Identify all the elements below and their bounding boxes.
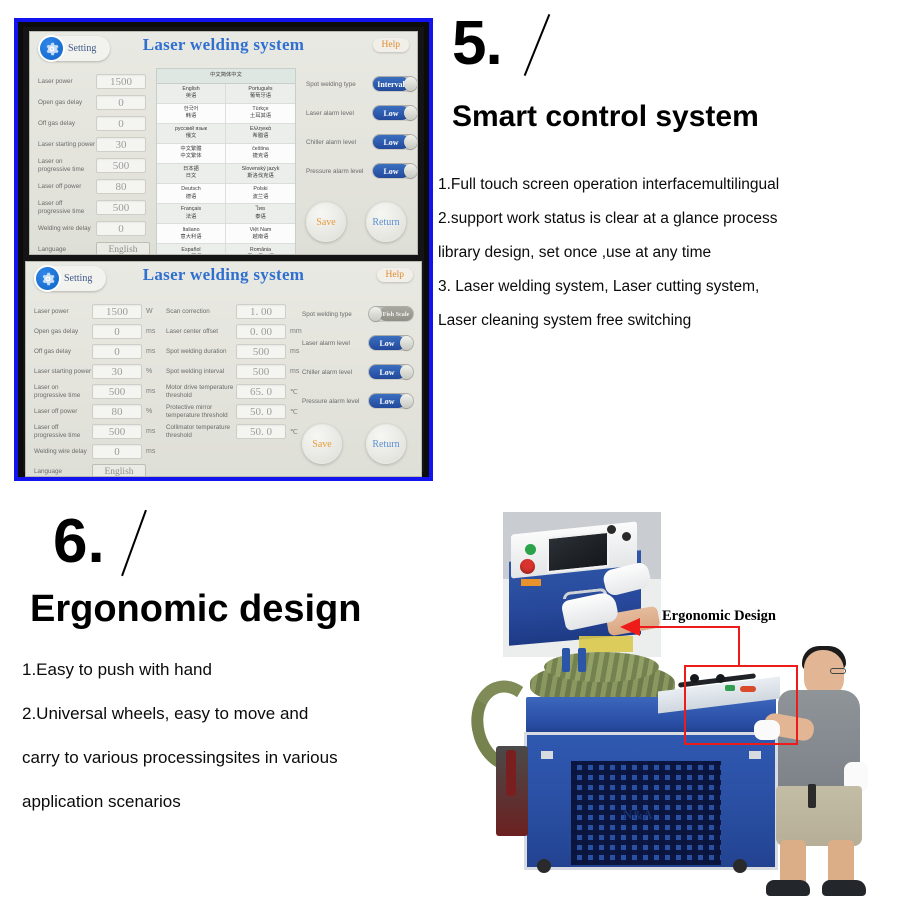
section5-bullet-list: 1.Full touch screen operation interfacem… xyxy=(438,168,898,338)
field-row: Off gas delay0 xyxy=(38,116,146,131)
section6-line-2: 2.Universal wheels, easy to move and xyxy=(22,692,492,736)
field-label: Laser off progressive time xyxy=(34,424,92,440)
toggle-knob xyxy=(404,164,417,178)
toggle-switch[interactable]: Interval xyxy=(372,76,418,92)
toggle-knob xyxy=(404,77,417,91)
field-row: Scan correction1. 00 xyxy=(166,304,306,319)
section6-bullet-list: 1.Easy to push with hand2.Universal whee… xyxy=(22,648,492,824)
field-row: Motor drive temperature threshold65. 0℃ xyxy=(166,384,306,400)
toggle-switch[interactable]: Low xyxy=(368,364,414,380)
hmi-panel-a: Setting Laser welding system Help Laser … xyxy=(29,31,418,255)
field-unit: ms xyxy=(146,448,162,455)
language-name: 中文繁體 xyxy=(180,146,201,152)
language-name-zh: 斯洛伐克语 xyxy=(227,173,294,180)
callout-leader-horizontal xyxy=(640,626,740,628)
language-name: 日本語 xyxy=(183,166,199,172)
toggle-label: Pressure alarm level xyxy=(306,168,372,175)
language-option[interactable]: România罗马尼亚语 xyxy=(226,244,295,255)
touch-screen-inset xyxy=(547,531,609,574)
field-label: Protective mirror temperature threshold xyxy=(166,404,236,420)
panel-b-body: Laser power1500WOpen gas delay0msOff gas… xyxy=(26,296,421,476)
language-name-zh: 西班牙语 xyxy=(158,254,224,255)
section6-line-1: 1.Easy to push with hand xyxy=(22,648,492,692)
field-label: Spot welding duration xyxy=(166,348,236,356)
language-option[interactable]: čeština捷克语 xyxy=(226,144,295,163)
field-label: Collimator temperature threshold xyxy=(166,424,236,440)
section5-line-4: 3. Laser welding system, Laser cutting s… xyxy=(438,270,898,304)
language-table-row: Italiano意大利语Việt Nam越南语 xyxy=(157,224,295,244)
language-name-zh: 韩语 xyxy=(158,113,224,120)
toggle-label: Spot welding type xyxy=(302,311,368,318)
section5-number: 5. xyxy=(452,8,502,79)
language-name-zh: 捷克语 xyxy=(227,153,294,160)
language-option[interactable]: Português葡萄牙语 xyxy=(226,84,295,103)
language-option[interactable]: ไทย泰语 xyxy=(226,204,295,223)
language-select-button[interactable]: English xyxy=(96,242,150,255)
language-name: Português xyxy=(248,86,272,92)
language-name: Ελληνικά xyxy=(250,126,271,132)
language-name: Việt Nam xyxy=(250,227,272,233)
latch-icon xyxy=(541,751,553,759)
language-option[interactable]: English英语 xyxy=(157,84,226,103)
language-name: ไทย xyxy=(256,206,265,212)
toggle-switch[interactable]: Low xyxy=(372,134,418,150)
language-name-zh: 波兰语 xyxy=(227,194,294,201)
field-value-input[interactable]: 0 xyxy=(96,116,146,131)
help-button-a[interactable]: Help xyxy=(373,38,409,52)
language-name: România xyxy=(250,247,271,253)
language-option[interactable]: Deutsch德语 xyxy=(157,184,226,203)
blue-strap xyxy=(578,648,586,672)
operator-belt-item xyxy=(808,784,816,808)
field-row: Laser on progressive time500 xyxy=(38,158,146,174)
black-knob-icon xyxy=(607,525,616,534)
field-value-input[interactable]: 65. 0 xyxy=(236,384,286,399)
field-label: Welding wire delay xyxy=(38,225,96,233)
toggle-row: Pressure alarm levelLow xyxy=(302,393,414,409)
field-unit: mm xyxy=(290,328,306,335)
language-option[interactable]: 中文繁體中文繁体 xyxy=(157,144,226,163)
field-value-input[interactable]: 50. 0 xyxy=(236,424,286,439)
language-select-button[interactable]: English xyxy=(92,464,146,477)
field-label: Laser off power xyxy=(34,408,92,416)
language-name-zh: 俄文 xyxy=(158,133,224,140)
section5-line-3: library design, set once ,use at any tim… xyxy=(438,236,898,270)
return-button-b[interactable]: Return xyxy=(366,424,406,464)
field-label: Laser center offset xyxy=(166,328,236,336)
latch-icon xyxy=(749,751,761,759)
field-row: Laser off progressive time500ms xyxy=(34,424,162,440)
field-unit: ms xyxy=(146,388,162,395)
language-row: LanguageEnglish xyxy=(34,464,146,477)
language-label: Language xyxy=(38,246,96,254)
field-label: Laser starting power xyxy=(34,368,92,376)
toggle-label: Pressure alarm level xyxy=(302,398,368,405)
field-row: Laser on progressive time500ms xyxy=(34,384,162,400)
field-row: Laser off power80% xyxy=(34,404,162,419)
poster-page: Setting Laser welding system Help Laser … xyxy=(0,0,900,900)
hmi-screen-bezel: Setting Laser welding system Help Laser … xyxy=(23,27,424,472)
toggle-row: Spot welding typeInterval xyxy=(306,76,418,92)
field-label: Laser power xyxy=(34,308,92,316)
field-value-input[interactable]: 0 xyxy=(96,95,146,110)
language-name-zh: 德语 xyxy=(158,194,224,201)
lang-header-name: 中文简体 xyxy=(210,72,231,78)
field-label: Laser starting power xyxy=(38,141,96,149)
operator-shorts xyxy=(776,786,862,846)
section5-line-5: Laser cleaning system free switching xyxy=(438,304,898,338)
toggle-row: Laser alarm levelLow xyxy=(306,105,418,121)
language-row: LanguageEnglish xyxy=(38,242,150,255)
panel-b-header: Setting Laser welding system Help xyxy=(26,262,421,296)
field-row: Spot welding duration500ms xyxy=(166,344,306,359)
field-value-input[interactable]: 0 xyxy=(92,344,142,359)
panel-b-title: Laser welding system xyxy=(26,265,421,285)
toggle-knob xyxy=(400,365,413,379)
toggle-row: Pressure alarm levelLow xyxy=(306,163,418,179)
field-value-input[interactable]: 500 xyxy=(96,200,146,215)
field-value-input[interactable]: 0. 00 xyxy=(236,324,286,339)
toggle-label: Chiller alarm level xyxy=(302,369,368,376)
operator-shoe xyxy=(822,880,866,896)
panel-a-header: Setting Laser welding system Help xyxy=(30,32,417,66)
return-button-a[interactable]: Return xyxy=(366,202,406,242)
field-unit: % xyxy=(146,408,162,415)
language-option[interactable]: Français法语 xyxy=(157,204,226,223)
callout-arrow-icon xyxy=(620,618,640,636)
field-value-input[interactable]: 0 xyxy=(96,221,146,236)
field-label: Open gas delay xyxy=(34,328,92,336)
section6-number: 6. xyxy=(53,506,105,577)
machine-logo: N&A xyxy=(623,807,653,823)
field-row: Off gas delay0ms xyxy=(34,344,162,359)
language-option[interactable]: Español西班牙语 xyxy=(157,244,226,255)
language-name: 한국어 xyxy=(184,106,199,112)
field-label: Off gas delay xyxy=(38,120,96,128)
toggle-switch[interactable]: Low xyxy=(368,393,414,409)
language-name-zh: 英语 xyxy=(158,93,224,100)
field-value-input[interactable]: 30 xyxy=(96,137,146,152)
field-label: Laser off progressive time xyxy=(38,200,96,216)
language-name-zh: 越南语 xyxy=(227,234,294,241)
language-table-row: 한국어韩语Türkçe土耳其语 xyxy=(157,104,295,124)
section6-line-4: application scenarios xyxy=(22,780,492,824)
language-option[interactable]: Polski波兰语 xyxy=(226,184,295,203)
panel-a-title: Laser welding system xyxy=(30,35,417,55)
field-unit: ms xyxy=(146,428,162,435)
field-value-input[interactable]: 80 xyxy=(92,404,142,419)
language-name-zh: 意大利语 xyxy=(158,234,224,241)
toggle-label: Spot welding type xyxy=(306,81,372,88)
field-value-input[interactable]: 500 xyxy=(92,384,142,399)
caster-wheel xyxy=(537,859,551,873)
language-table-row: русский язык俄文Ελληνικά希腊语 xyxy=(157,124,295,144)
field-row: Laser power1500W xyxy=(34,304,162,319)
field-value-input[interactable]: 500 xyxy=(92,424,142,439)
field-label: Spot welding interval xyxy=(166,368,236,376)
callout-label: Ergonomic Design xyxy=(662,608,776,625)
field-label: Laser off power xyxy=(38,183,96,191)
toggle-knob xyxy=(404,135,417,149)
toggle-switch[interactable]: Low xyxy=(372,163,418,179)
field-value-input[interactable]: 0 xyxy=(92,324,142,339)
language-table-row: Deutsch德语Polski波兰语 xyxy=(157,184,295,204)
language-name-zh: 法语 xyxy=(158,214,224,221)
section5-line-2: 2.support work status is clear at a glan… xyxy=(438,202,898,236)
operator-shoe xyxy=(766,880,810,896)
toggle-switch[interactable]: Fish Scale xyxy=(368,306,414,322)
language-name: Deutsch xyxy=(181,186,200,192)
language-name: русский язык xyxy=(175,126,207,132)
orange-indicator-icon xyxy=(521,579,541,586)
language-name: Türkçe xyxy=(252,106,268,112)
language-table-row: Español西班牙语România罗马尼亚语 xyxy=(157,244,295,255)
language-name: English xyxy=(182,86,199,92)
language-name: Español xyxy=(181,247,200,253)
field-label: Welding wire delay xyxy=(34,448,92,456)
language-label: Language xyxy=(34,468,92,476)
language-name-zh: 葡萄牙语 xyxy=(227,93,294,100)
field-label: Motor drive temperature threshold xyxy=(166,384,236,400)
field-label: Laser on progressive time xyxy=(38,158,96,174)
section6-slash xyxy=(121,510,147,576)
callout-leader-vertical xyxy=(738,627,740,667)
toggle-label: Chiller alarm level xyxy=(306,139,372,146)
save-button-a[interactable]: Save xyxy=(306,202,346,242)
language-table-header: 中文简体中文 xyxy=(157,69,295,84)
glasses-icon xyxy=(830,668,846,674)
field-row: Collimator temperature threshold50. 0℃ xyxy=(166,424,306,440)
language-table[interactable]: 中文简体中文English英语Português葡萄牙语한국어韩语Türkçe土… xyxy=(156,68,296,255)
black-knob-icon xyxy=(622,532,631,541)
field-value-input[interactable]: 1500 xyxy=(92,304,142,319)
language-option[interactable]: Ελληνικά希腊语 xyxy=(226,124,295,143)
language-name-zh: 日文 xyxy=(158,173,224,180)
language-option[interactable]: Italiano意大利语 xyxy=(157,224,226,243)
field-label: Laser power xyxy=(38,78,96,86)
toggle-switch[interactable]: Low xyxy=(368,335,414,351)
language-option[interactable]: Việt Nam越南语 xyxy=(226,224,295,243)
field-row: Spot welding interval500ms xyxy=(166,364,306,379)
language-table-row: 日本語日文Slovenský jazyk斯洛伐克语 xyxy=(157,164,295,184)
hmi-screenshot-frame: Setting Laser welding system Help Laser … xyxy=(14,18,433,481)
emergency-stop-icon xyxy=(520,559,535,574)
field-value-input[interactable]: 30 xyxy=(92,364,142,379)
language-table-row: English英语Português葡萄牙语 xyxy=(157,84,295,104)
field-row: Laser center offset0. 00mm xyxy=(166,324,306,339)
section5-slash xyxy=(524,14,551,76)
language-name: Slovenský jazyk xyxy=(242,166,280,172)
green-button-icon xyxy=(525,544,536,555)
language-option[interactable]: русский язык俄文 xyxy=(157,124,226,143)
toggle-row: Chiller alarm levelLow xyxy=(306,134,418,150)
language-name-zh: 泰语 xyxy=(227,214,294,221)
field-row: Laser starting power30% xyxy=(34,364,162,379)
toggle-knob xyxy=(400,336,413,350)
section5-title: Smart control system xyxy=(452,100,759,134)
section6-title: Ergonomic design xyxy=(30,588,361,631)
panel-a-body: Laser power1500Open gas delay0Off gas de… xyxy=(30,66,417,254)
language-table-row: Français法语ไทย泰语 xyxy=(157,204,295,224)
language-name: Polski xyxy=(253,186,267,192)
holstered-torch xyxy=(506,750,516,796)
toggle-knob xyxy=(369,307,382,321)
field-unit: ℃ xyxy=(290,408,306,416)
toggle-switch[interactable]: Low xyxy=(372,105,418,121)
section6-line-3: carry to various processingsites in vari… xyxy=(22,736,492,780)
toggle-value-label: Fish Scale xyxy=(379,307,413,321)
language-name-zh: 中文繁体 xyxy=(158,153,224,160)
language-option[interactable]: 日本語日文 xyxy=(157,164,226,183)
field-value-input[interactable]: 50. 0 xyxy=(236,404,286,419)
field-label: Off gas delay xyxy=(34,348,92,356)
toggle-row: Spot welding typeFish Scale xyxy=(302,306,414,322)
toggle-row: Laser alarm levelLow xyxy=(302,335,414,351)
language-name: Italiano xyxy=(182,227,199,233)
field-value-input[interactable]: 1. 00 xyxy=(236,304,286,319)
callout-highlight-box xyxy=(684,665,798,745)
caster-wheel xyxy=(733,859,747,873)
field-value-input[interactable]: 0 xyxy=(92,444,142,459)
field-value-input[interactable]: 500 xyxy=(96,158,146,173)
field-row: Laser starting power30 xyxy=(38,137,146,152)
field-unit: W xyxy=(146,308,162,315)
section5-line-1: 1.Full touch screen operation interfacem… xyxy=(438,168,898,202)
field-unit: ms xyxy=(146,348,162,355)
language-option[interactable]: 한국어韩语 xyxy=(157,104,226,123)
language-name-zh: 罗马尼亚语 xyxy=(227,254,294,255)
field-value-input[interactable]: 80 xyxy=(96,179,146,194)
lang-header-sub: 中文 xyxy=(231,72,242,78)
field-row: Laser power1500 xyxy=(38,74,146,89)
blue-strap xyxy=(562,648,570,672)
toggle-knob xyxy=(400,394,413,408)
language-option[interactable]: Türkçe土耳其语 xyxy=(226,104,295,123)
field-unit: % xyxy=(146,368,162,375)
field-label: Open gas delay xyxy=(38,99,96,107)
field-unit: ms xyxy=(146,328,162,335)
field-label: Laser on progressive time xyxy=(34,384,92,400)
field-row: Laser off progressive time500 xyxy=(38,200,146,216)
language-option[interactable]: Slovenský jazyk斯洛伐克语 xyxy=(226,164,295,183)
field-row: Laser off power80 xyxy=(38,179,146,194)
toggle-label: Laser alarm level xyxy=(302,340,368,347)
language-name: čeština xyxy=(252,146,269,152)
field-row: Welding wire delay0 xyxy=(38,221,146,236)
field-value-input[interactable]: 500 xyxy=(236,364,286,379)
save-button-b[interactable]: Save xyxy=(302,424,342,464)
field-row: Protective mirror temperature threshold5… xyxy=(166,404,306,420)
language-name-zh: 土耳其语 xyxy=(227,113,294,120)
field-value-input[interactable]: 500 xyxy=(236,344,286,359)
toggle-label: Laser alarm level xyxy=(306,110,372,117)
field-row: Open gas delay0 xyxy=(38,95,146,110)
toggle-knob xyxy=(404,106,417,120)
field-label: Scan correction xyxy=(166,308,236,316)
machine-main-body: N&A xyxy=(524,732,778,870)
language-name-zh: 希腊语 xyxy=(227,133,294,140)
help-button-b[interactable]: Help xyxy=(377,268,413,282)
toggle-row: Chiller alarm levelLow xyxy=(302,364,414,380)
field-value-input[interactable]: 1500 xyxy=(96,74,146,89)
field-row: Welding wire delay0ms xyxy=(34,444,162,459)
language-table-row: 中文繁體中文繁体čeština捷克语 xyxy=(157,144,295,164)
field-row: Open gas delay0ms xyxy=(34,324,162,339)
hmi-panel-b: Setting Laser welding system Help Laser … xyxy=(25,261,422,477)
language-name: Français xyxy=(181,206,201,212)
